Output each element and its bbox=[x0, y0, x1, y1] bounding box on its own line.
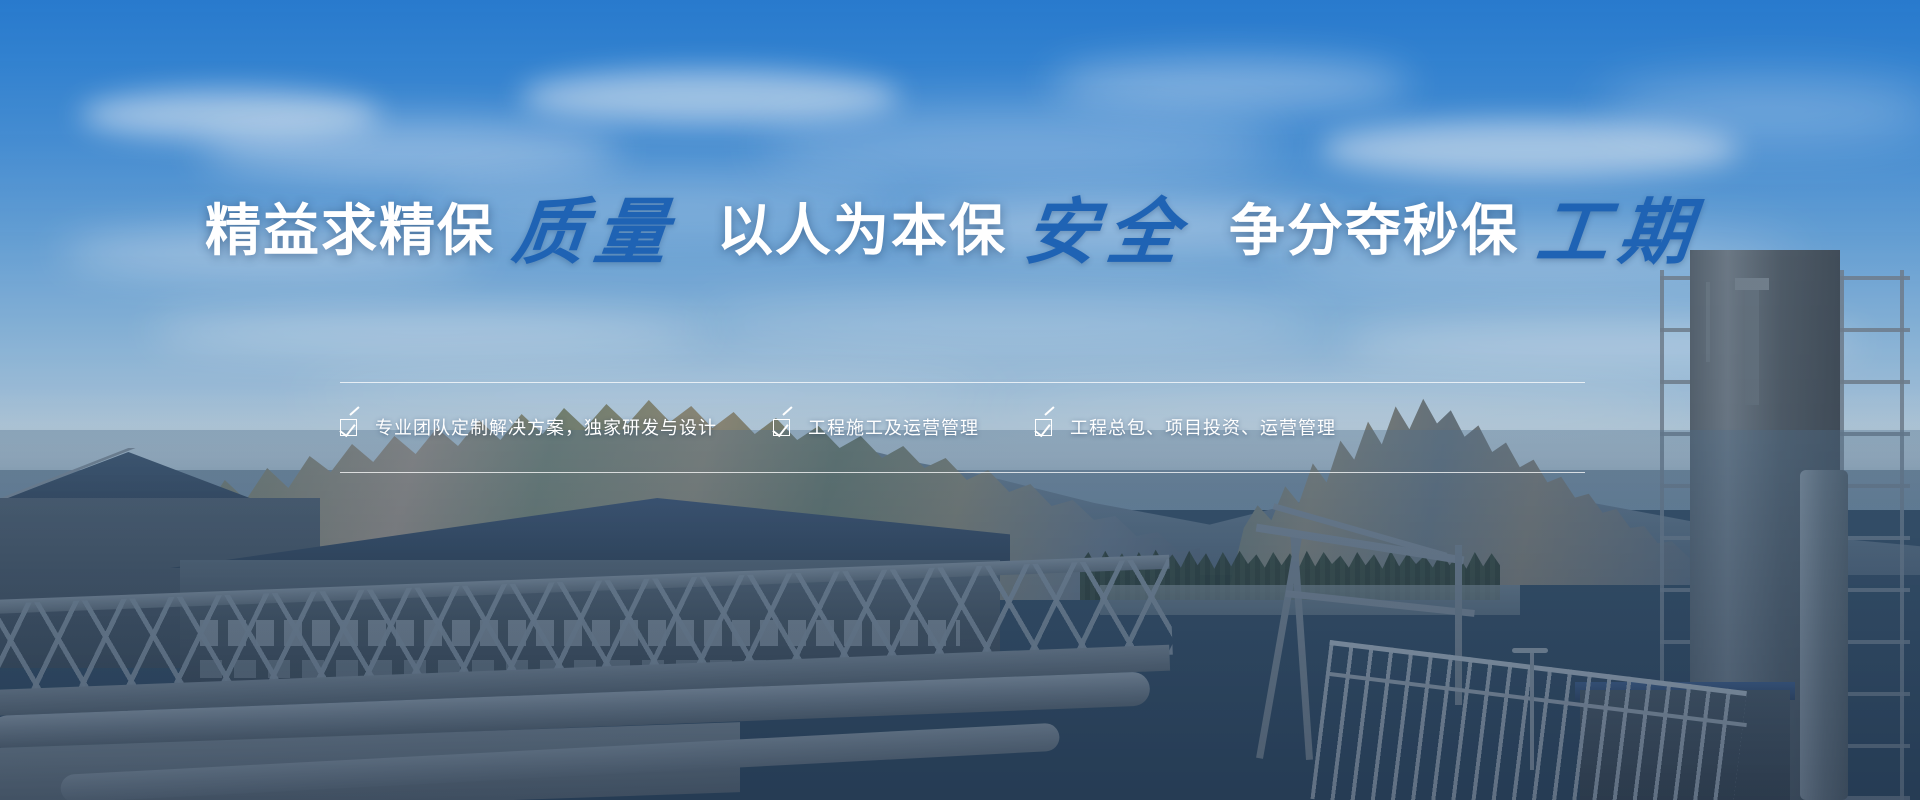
headline-segment-schedule-prefix: 争分夺秒保 bbox=[1229, 204, 1519, 260]
text-overlay: 精益求精保 质量 以人为本保 安全 争分夺秒保 工期 专业团队定制解决方案，独家… bbox=[0, 0, 1920, 800]
checked-checkbox-icon bbox=[340, 419, 357, 436]
headline-segment-quality-prefix: 精益求精保 bbox=[205, 204, 495, 260]
divider-bottom bbox=[340, 472, 1585, 473]
divider-top bbox=[340, 382, 1585, 383]
hero-banner: 精益求精保 质量 以人为本保 安全 争分夺秒保 工期 专业团队定制解决方案，独家… bbox=[0, 0, 1920, 800]
headline-segment-safety: 安全 bbox=[1021, 196, 1193, 268]
feature-label: 专业团队定制解决方案，独家研发与设计 bbox=[375, 414, 717, 440]
feature-label: 工程施工及运营管理 bbox=[808, 414, 979, 440]
checked-checkbox-icon bbox=[773, 419, 790, 436]
feature-list: 专业团队定制解决方案，独家研发与设计 工程施工及运营管理 工程总包、项目投资、运… bbox=[340, 396, 1585, 458]
headline-segment-safety-prefix: 以人为本保 bbox=[717, 204, 1007, 260]
headline-segment-schedule: 工期 bbox=[1533, 196, 1705, 268]
headline-segment-quality: 质量 bbox=[509, 196, 681, 268]
feature-item-solutions: 专业团队定制解决方案，独家研发与设计 bbox=[340, 414, 717, 440]
feature-item-construction: 工程施工及运营管理 bbox=[773, 414, 979, 440]
checked-checkbox-icon bbox=[1035, 419, 1052, 436]
feature-item-epc: 工程总包、项目投资、运营管理 bbox=[1035, 414, 1336, 440]
feature-label: 工程总包、项目投资、运营管理 bbox=[1070, 414, 1336, 440]
headline: 精益求精保 质量 以人为本保 安全 争分夺秒保 工期 bbox=[0, 196, 1920, 268]
